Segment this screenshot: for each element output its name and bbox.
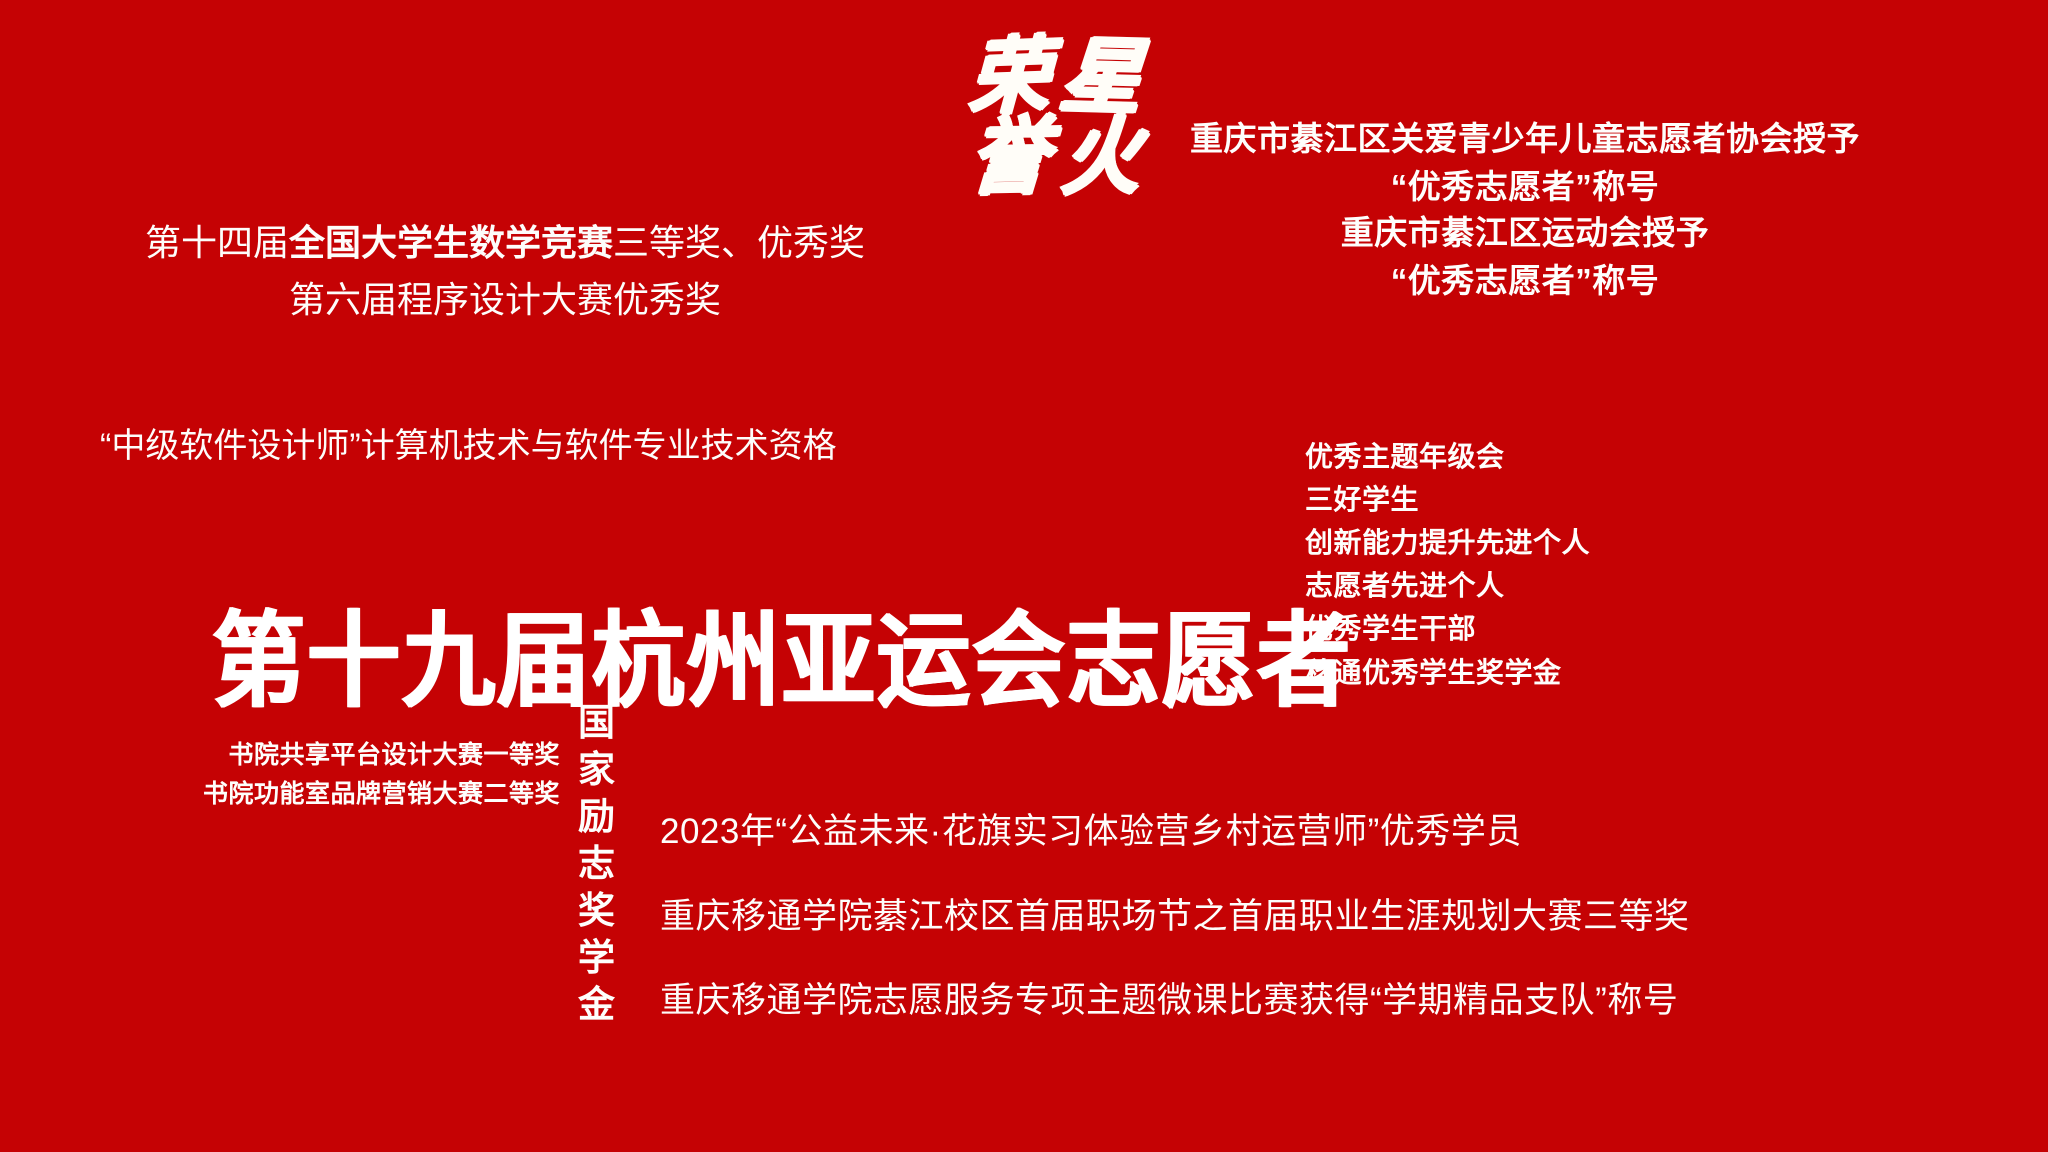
competition-suffix: 三等奖、优秀奖 xyxy=(613,222,865,263)
competition-prefix: 第十四届 xyxy=(145,222,289,263)
vertical-char: 家 xyxy=(578,747,615,794)
calligraphy-column-right: 星 火 xyxy=(1062,40,1140,240)
list-item: 三好学生 xyxy=(1305,478,1590,521)
award-org-line-2: 重庆市綦江区运动会授予 xyxy=(1150,212,1900,255)
vertical-char: 学 xyxy=(578,935,615,982)
national-scholarship-vertical: 国 家 励 志 奖 学 金 xyxy=(578,700,615,1029)
calligraphy-char-huo: 火 xyxy=(1059,117,1143,201)
college-award-line-2: 书院功能室品牌营销大赛二等奖 xyxy=(120,775,560,814)
competition-award-line-2: 第六届程序设计大赛优秀奖 xyxy=(110,272,900,329)
headline-title: 第十九届杭州亚运会志愿者 xyxy=(212,576,1352,727)
vertical-char: 国 xyxy=(578,700,615,747)
list-item: 创新能力提升先进个人 xyxy=(1305,521,1590,564)
bottom-right-award-block: 2023年“公益未来·花旗实习体验营乡村运营师”优秀学员 重庆移通学院綦江校区首… xyxy=(660,790,1690,1044)
calligraphy-column-left: 荣 誉 xyxy=(970,40,1048,240)
calligraphy-emblem: 星 火 荣 誉 xyxy=(910,40,1140,240)
certification-line: “中级软件设计师”计算机技术与软件专业技术资格 xyxy=(100,418,837,467)
vertical-char: 金 xyxy=(578,982,615,1029)
competition-award-block: 第十四届全国大学生数学竞赛三等奖、优秀奖 第六届程序设计大赛优秀奖 xyxy=(110,215,900,329)
college-award-block: 书院共享平台设计大赛一等奖 书院功能室品牌营销大赛二等奖 xyxy=(120,736,560,814)
competition-award-line-1: 第十四届全国大学生数学竞赛三等奖、优秀奖 xyxy=(110,215,900,272)
college-award-line-1: 书院共享平台设计大赛一等奖 xyxy=(120,736,560,775)
award-title-line-2: “优秀志愿者”称号 xyxy=(1150,255,1900,306)
vertical-char: 奖 xyxy=(578,888,615,935)
award-title-line-1: “优秀志愿者”称号 xyxy=(1150,161,1900,212)
honor-poster: 星 火 荣 誉 重庆市綦江区关爱青少年儿童志愿者协会授予 “优秀志愿者”称号 重… xyxy=(0,0,2048,1152)
vertical-char: 励 xyxy=(578,794,615,841)
bottom-award-line-2: 重庆移通学院綦江校区首届职场节之首届职业生涯规划大赛三等奖 xyxy=(660,875,1690,960)
calligraphy-char-yu: 誉 xyxy=(967,117,1051,201)
award-org-line-1: 重庆市綦江区关爱青少年儿童志愿者协会授予 xyxy=(1150,118,1900,161)
list-item: 优秀主题年级会 xyxy=(1305,435,1590,478)
bottom-award-line-3: 重庆移通学院志愿服务专项主题微课比赛获得“学期精品支队”称号 xyxy=(660,959,1690,1044)
bottom-award-line-1: 2023年“公益未来·花旗实习体验营乡村运营师”优秀学员 xyxy=(660,790,1690,875)
competition-emphasis: 全国大学生数学竞赛 xyxy=(289,222,613,263)
top-right-award-block: 重庆市綦江区关爱青少年儿童志愿者协会授予 “优秀志愿者”称号 重庆市綦江区运动会… xyxy=(1150,118,1900,306)
vertical-char: 志 xyxy=(578,841,615,888)
